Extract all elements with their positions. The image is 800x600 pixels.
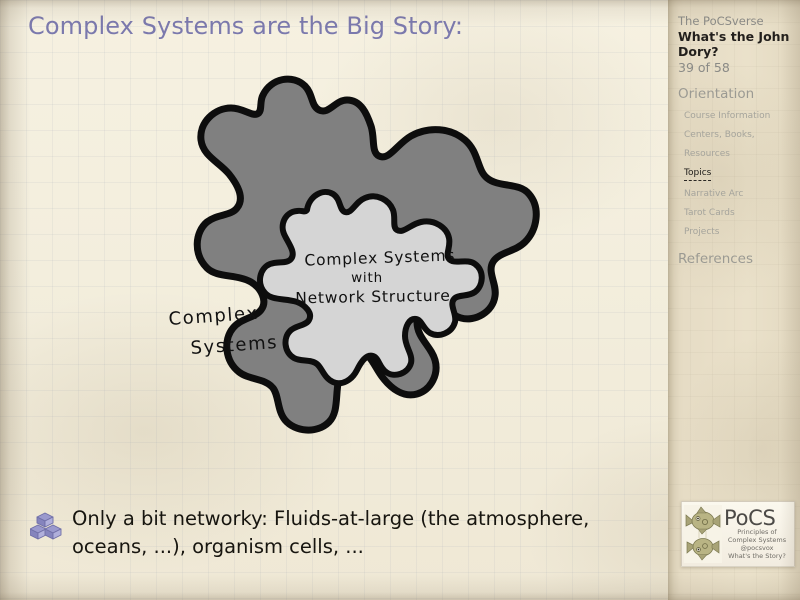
sidebar-subtitle: What's the John Dory?: [678, 29, 798, 59]
sidebar-item-projects[interactable]: Projects: [678, 219, 798, 238]
pocs-logo-text: PoCS Principles of Complex Systems @pocs…: [722, 508, 794, 561]
sidebar-item-label: Narrative Arc: [684, 189, 743, 199]
sidebar-item-centers-books-resources[interactable]: Centers, Books, Resources: [678, 122, 798, 160]
pocs-logo-title: PoCS: [722, 508, 792, 528]
sidebar-item-label: Tarot Cards: [684, 208, 735, 218]
sidebar-item-course-information[interactable]: Course Information: [678, 103, 798, 122]
complex-systems-venn-diagram: Complex Systems with Network Structure C…: [95, 70, 575, 470]
sidebar-item-narrative-arc[interactable]: Narrative Arc: [678, 181, 798, 200]
sidebar-item-label: Projects: [684, 227, 719, 237]
pocs-logo[interactable]: PoCS Principles of Complex Systems @pocs…: [681, 501, 795, 567]
sidebar-item-topics[interactable]: Topics: [678, 160, 798, 181]
sidebar-item-tarot-cards[interactable]: Tarot Cards: [678, 200, 798, 219]
sidebar-item-label: Topics: [684, 168, 711, 181]
inner-label-line2: with: [351, 270, 383, 286]
sidebar-page-count: 39 of 58: [678, 60, 798, 76]
pocs-logo-line2: Complex Systems: [722, 536, 792, 544]
sidebar-section-orientation[interactable]: Orientation: [678, 86, 798, 103]
inner-label-line3: Network Structure: [295, 287, 451, 308]
page-title: Complex Systems are the Big Story:: [28, 12, 463, 40]
blob-svg: Complex Systems with Network Structure C…: [95, 70, 575, 470]
bullet-row: Only a bit networky: Fluids-at-large (th…: [30, 505, 630, 561]
cubes-icon: [30, 511, 62, 541]
bullet-text: Only a bit networky: Fluids-at-large (th…: [62, 505, 630, 561]
sidebar-item-label: Centers, Books, Resources: [684, 130, 755, 159]
sidebar-spacer: [678, 238, 798, 247]
slide-canvas: Complex Systems are the Big Story: Compl…: [0, 0, 800, 600]
sidebar-brand: The PoCSverse: [678, 14, 798, 29]
sidebar-item-label: Course Information: [684, 111, 770, 121]
pocs-logo-line4: What's the Story?: [722, 552, 792, 560]
john-dory-fish-icon: [684, 505, 722, 563]
pocs-logo-line3: @pocsvox: [722, 544, 792, 552]
sidebar-section-references[interactable]: References: [678, 251, 798, 268]
